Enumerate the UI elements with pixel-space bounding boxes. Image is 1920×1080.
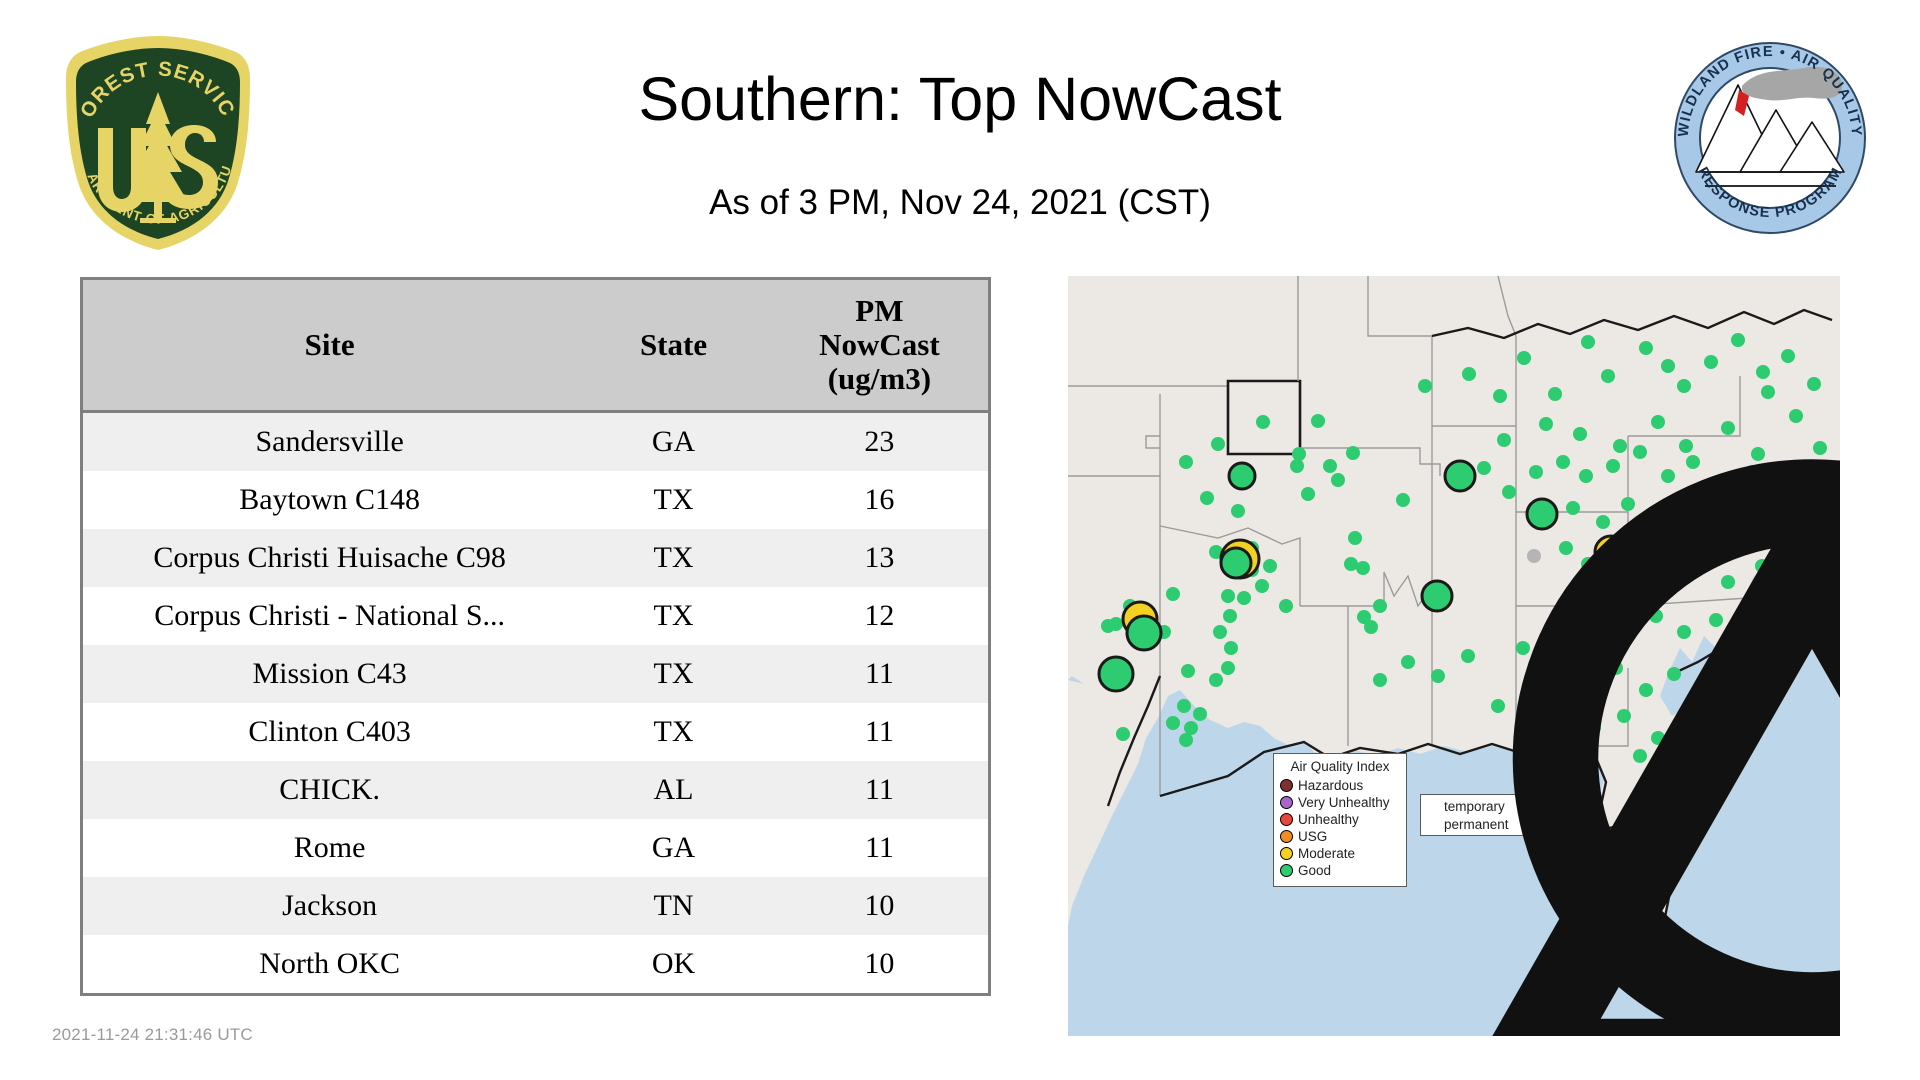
wildland-fire-logo: WILDLAND FIRE • AIR QUALITY RESPONSE PRO… <box>1672 40 1868 236</box>
pm-line-3: (ug/m3) <box>828 361 931 396</box>
monitor-marker[interactable] <box>1373 673 1387 687</box>
column-header-site[interactable]: Site <box>83 280 576 412</box>
column-header-state[interactable]: State <box>576 280 771 412</box>
table-row[interactable]: CHICK.AL11 <box>83 761 988 819</box>
table-row[interactable]: Baytown C148TX16 <box>83 471 988 529</box>
column-header-pm-nowcast[interactable]: PM NowCast (ug/m3) <box>771 280 988 412</box>
monitor-marker[interactable] <box>1346 446 1360 460</box>
aqi-legend-label: USG <box>1298 829 1327 844</box>
monitor-marker[interactable] <box>1256 415 1270 429</box>
aqi-legend-dot-icon <box>1280 830 1293 843</box>
aqi-legend-item: USG <box>1280 828 1400 845</box>
pm-nowcast-cell: 16 <box>771 471 988 529</box>
top-site-marker[interactable] <box>1099 657 1133 691</box>
aqi-legend-item: Unhealthy <box>1280 811 1400 828</box>
state-cell: OK <box>576 935 771 993</box>
monitor-marker[interactable] <box>1179 455 1193 469</box>
pm-line-1: PM <box>855 293 903 328</box>
pm-nowcast-cell: 11 <box>771 761 988 819</box>
monitor-marker[interactable] <box>1311 414 1325 428</box>
monitor-marker[interactable] <box>1237 591 1251 605</box>
aqi-legend: Air Quality Index HazardousVery Unhealth… <box>1273 753 1407 887</box>
monitor-marker[interactable] <box>1211 437 1225 451</box>
pm-nowcast-cell: 10 <box>771 935 988 993</box>
monitor-marker[interactable] <box>1231 504 1245 518</box>
monitor-marker[interactable] <box>1493 389 1507 403</box>
site-type-legend: temporary permanent <box>1420 794 1524 836</box>
monitor-marker[interactable] <box>1462 367 1476 381</box>
site-cell: Baytown C148 <box>83 471 576 529</box>
monitor-marker[interactable] <box>1731 333 1745 347</box>
aqi-legend-label: Moderate <box>1298 846 1355 861</box>
monitor-marker[interactable] <box>1184 721 1198 735</box>
page-title: Southern: Top NowCast <box>280 60 1640 138</box>
table-body: SandersvilleGA23Baytown C148TX16Corpus C… <box>83 412 988 994</box>
aqi-legend-label: Good <box>1298 863 1331 878</box>
monitor-marker[interactable] <box>1781 349 1795 363</box>
state-cell: TX <box>576 703 771 761</box>
site-cell: Sandersville <box>83 412 576 472</box>
site-cell: CHICK. <box>83 761 576 819</box>
monitor-marker[interactable] <box>1221 589 1235 603</box>
table-header-row: Site State PM NowCast (ug/m3) <box>83 280 988 412</box>
state-cell: TN <box>576 877 771 935</box>
state-cell: AL <box>576 761 771 819</box>
site-cell: Rome <box>83 819 576 877</box>
site-cell: Mission C43 <box>83 645 576 703</box>
monitor-marker[interactable] <box>1331 473 1345 487</box>
air-quality-map[interactable]: Air Quality Index HazardousVery Unhealth… <box>1068 276 1840 1036</box>
aqi-legend-dot-icon <box>1280 796 1293 809</box>
monitor-marker[interactable] <box>1209 673 1223 687</box>
top-site-marker[interactable] <box>1221 548 1251 578</box>
monitor-marker[interactable] <box>1639 341 1653 355</box>
aqi-legend-dot-icon <box>1280 779 1293 792</box>
monitor-marker[interactable] <box>1193 707 1207 721</box>
table-row[interactable]: Clinton C403TX11 <box>83 703 988 761</box>
monitor-marker[interactable] <box>1517 351 1531 365</box>
monitor-marker[interactable] <box>1401 655 1415 669</box>
table-row[interactable]: SandersvilleGA23 <box>83 412 988 472</box>
monitor-marker[interactable] <box>1166 587 1180 601</box>
state-cell: GA <box>576 819 771 877</box>
monitor-marker[interactable] <box>1373 599 1387 613</box>
top-nowcast-table: Site State PM NowCast (ug/m3) Sandersvil… <box>80 277 991 996</box>
aqi-legend-item: Moderate <box>1280 845 1400 862</box>
site-cell: Corpus Christi Huisache C98 <box>83 529 576 587</box>
table-row[interactable]: RomeGA11 <box>83 819 988 877</box>
monitor-marker[interactable] <box>1292 447 1306 461</box>
monitor-marker[interactable] <box>1255 579 1269 593</box>
monitor-marker[interactable] <box>1223 609 1237 623</box>
monitor-marker[interactable] <box>1179 733 1193 747</box>
aqi-legend-label: Unhealthy <box>1298 812 1359 827</box>
monitor-marker[interactable] <box>1290 459 1304 473</box>
page-subtitle: As of 3 PM, Nov 24, 2021 (CST) <box>280 182 1640 224</box>
pm-nowcast-cell: 23 <box>771 412 988 472</box>
aqi-legend-title: Air Quality Index <box>1280 759 1400 774</box>
monitor-marker[interactable] <box>1356 561 1370 575</box>
monitor-marker[interactable] <box>1661 359 1675 373</box>
monitor-marker[interactable] <box>1704 355 1718 369</box>
column-header-site-label: Site <box>305 327 355 362</box>
monitor-marker[interactable] <box>1181 664 1195 678</box>
top-site-marker[interactable] <box>1127 616 1161 650</box>
monitor-marker[interactable] <box>1601 369 1615 383</box>
state-cell: TX <box>576 529 771 587</box>
aqi-legend-item: Very Unhealthy <box>1280 794 1400 811</box>
forest-service-logo: FOREST SERVICE DEPARTMENT OF AGRICULTURE <box>58 32 258 254</box>
pm-nowcast-cell: 10 <box>771 877 988 935</box>
state-cell: TX <box>576 471 771 529</box>
monitor-marker[interactable] <box>1357 610 1371 624</box>
legend-permanent-label: permanent <box>1444 817 1509 832</box>
monitor-marker[interactable] <box>1301 487 1315 501</box>
aqi-legend-label: Very Unhealthy <box>1298 795 1390 810</box>
aqi-legend-dot-icon <box>1280 864 1293 877</box>
site-cell: North OKC <box>83 935 576 993</box>
column-header-state-label: State <box>640 327 707 362</box>
monitor-marker[interactable] <box>1323 459 1337 473</box>
pm-nowcast-cell: 13 <box>771 529 988 587</box>
site-cell: Jackson <box>83 877 576 935</box>
state-cell: GA <box>576 412 771 472</box>
table-row[interactable]: JacksonTN10 <box>83 877 988 935</box>
table-row[interactable]: Corpus Christi Huisache C98TX13 <box>83 529 988 587</box>
monitor-marker[interactable] <box>1348 531 1362 545</box>
monitor-marker[interactable] <box>1200 491 1214 505</box>
monitor-marker[interactable] <box>1581 335 1595 349</box>
slide-canvas: FOREST SERVICE DEPARTMENT OF AGRICULTURE <box>0 0 1920 1080</box>
footer-timestamp: 2021-11-24 21:31:46 UTC <box>52 1025 253 1045</box>
pm-line-2: NowCast <box>819 327 940 362</box>
monitor-marker[interactable] <box>1263 559 1277 573</box>
site-cell: Clinton C403 <box>83 703 576 761</box>
monitor-marker[interactable] <box>1807 377 1821 391</box>
aqi-legend-item: Hazardous <box>1280 777 1400 794</box>
site-cell: Corpus Christi - National S... <box>83 587 576 645</box>
monitor-marker[interactable] <box>1677 379 1691 393</box>
monitor-marker[interactable] <box>1101 619 1115 633</box>
monitor-marker[interactable] <box>1224 641 1238 655</box>
monitor-marker[interactable] <box>1279 599 1293 613</box>
monitor-marker[interactable] <box>1166 716 1180 730</box>
monitor-marker[interactable] <box>1756 365 1770 379</box>
monitor-marker[interactable] <box>1344 557 1358 571</box>
permanent-triangle-icon <box>1426 444 1444 1036</box>
pm-nowcast-cell: 11 <box>771 819 988 877</box>
table-row[interactable]: North OKCOK10 <box>83 935 988 993</box>
monitor-marker[interactable] <box>1213 625 1227 639</box>
pm-nowcast-cell: 12 <box>771 587 988 645</box>
table-row[interactable]: Mission C43TX11 <box>83 645 988 703</box>
monitor-marker[interactable] <box>1396 493 1410 507</box>
table-row[interactable]: Corpus Christi - National S...TX12 <box>83 587 988 645</box>
monitor-marker[interactable] <box>1221 661 1235 675</box>
state-cell: TX <box>576 645 771 703</box>
aqi-legend-label: Hazardous <box>1298 778 1363 793</box>
pm-nowcast-cell: 11 <box>771 703 988 761</box>
aqi-legend-item: Good <box>1280 862 1400 879</box>
monitor-marker[interactable] <box>1789 409 1803 423</box>
monitor-marker[interactable] <box>1177 699 1191 713</box>
monitor-marker[interactable] <box>1548 387 1562 401</box>
pm-nowcast-cell: 11 <box>771 645 988 703</box>
monitor-marker[interactable] <box>1761 385 1775 399</box>
monitor-marker[interactable] <box>1116 727 1130 741</box>
aqi-legend-dot-icon <box>1280 847 1293 860</box>
monitor-marker[interactable] <box>1418 379 1432 393</box>
top-site-marker[interactable] <box>1229 463 1255 489</box>
state-cell: TX <box>576 587 771 645</box>
aqi-legend-dot-icon <box>1280 813 1293 826</box>
